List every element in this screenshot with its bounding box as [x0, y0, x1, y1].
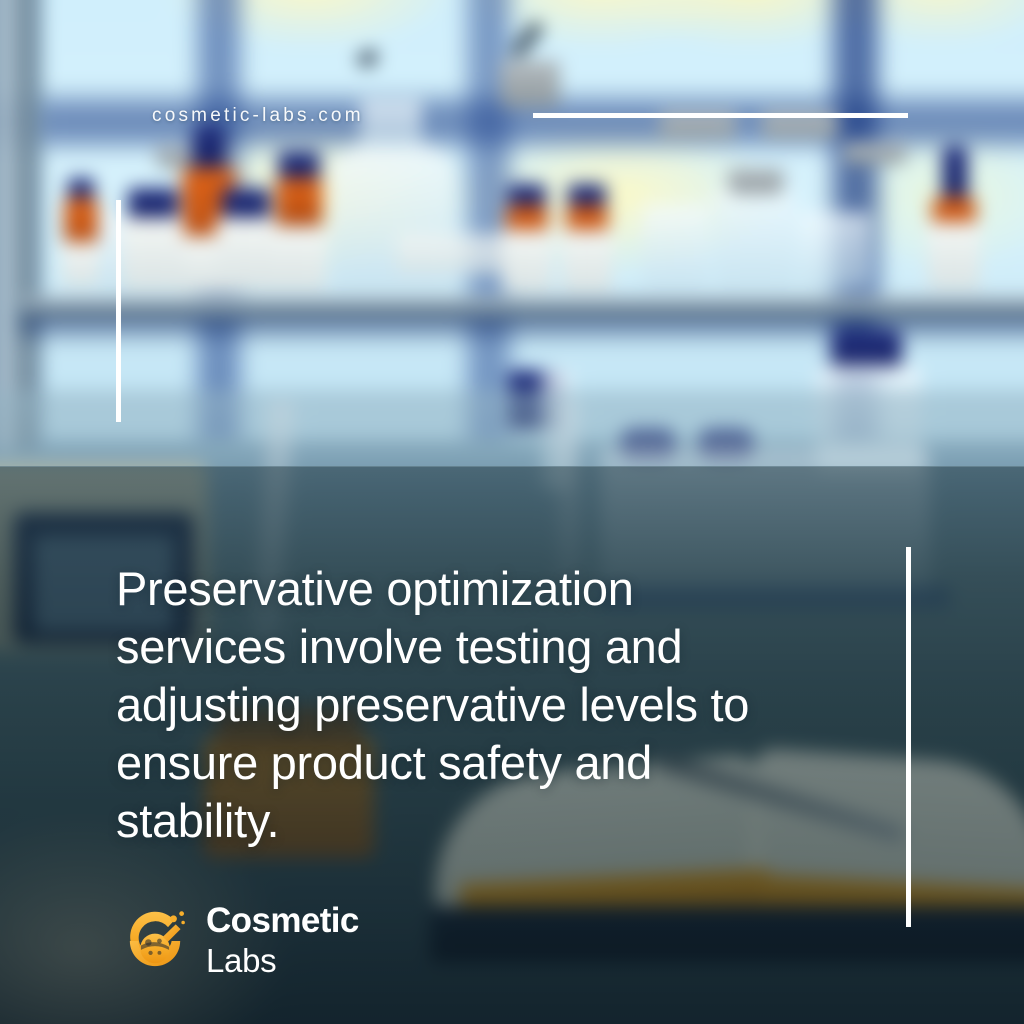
flask-label	[396, 234, 504, 274]
headline-text: Preservative optimization services invol…	[116, 560, 756, 850]
right-vertical-rule	[906, 547, 911, 927]
beaker	[798, 212, 870, 290]
white-jar	[216, 218, 276, 290]
flask-in-circle-icon	[118, 904, 192, 978]
beaker	[642, 204, 710, 290]
bottle-label	[562, 230, 612, 292]
logo-word-labs: Labs	[206, 944, 359, 977]
bottle-label	[502, 230, 552, 292]
mortar	[500, 60, 560, 108]
social-card: cosmetic-labs.com Preservative optimizat…	[0, 0, 1024, 1024]
scrim-top-edge	[0, 466, 1024, 467]
bottle-label	[928, 222, 980, 290]
top-horizontal-rule	[533, 113, 908, 118]
window-frame-column-inner	[24, 0, 44, 450]
left-vertical-rule	[116, 200, 121, 422]
brand-logo[interactable]: Cosmetic Labs	[118, 903, 359, 979]
logo-word-cosmetic: Cosmetic	[206, 903, 359, 938]
bottle-label	[272, 226, 326, 290]
logo-wordmark: Cosmetic Labs	[206, 903, 359, 979]
jar-stopper	[728, 168, 784, 194]
reagent-jar	[716, 182, 794, 290]
dropper-bulb	[942, 146, 968, 202]
bottle-label	[62, 242, 100, 286]
funnel-rim	[844, 142, 906, 164]
site-url[interactable]: cosmetic-labs.com	[152, 105, 364, 127]
dropper-bulb	[192, 124, 226, 172]
shelf-plank	[20, 296, 1024, 320]
white-jar	[122, 218, 184, 290]
